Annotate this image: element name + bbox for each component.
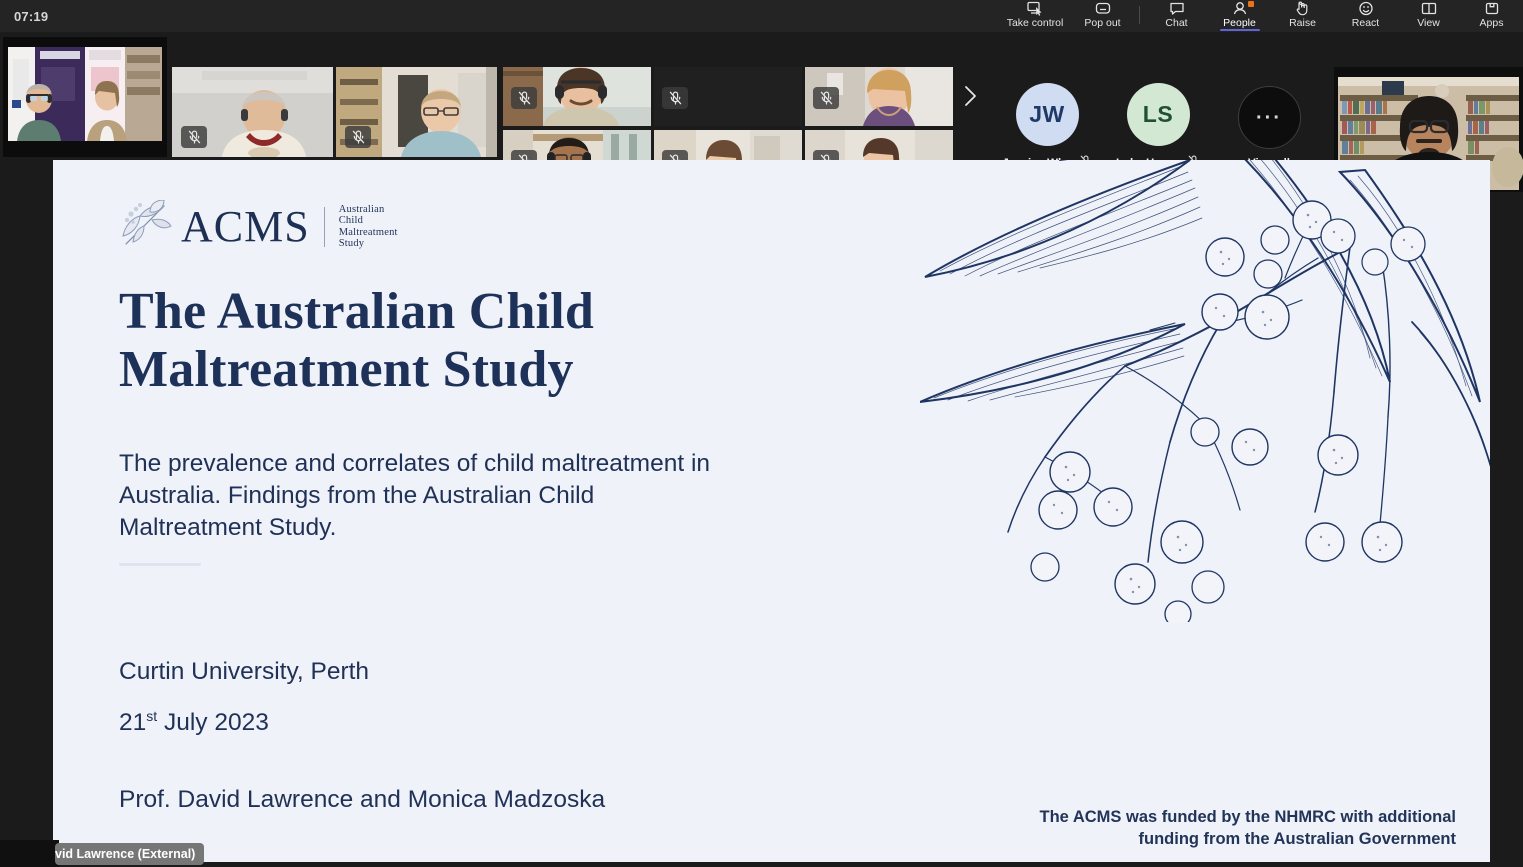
raise-hand-label: Raise — [1289, 17, 1316, 29]
people-active-indicator — [1220, 29, 1260, 31]
avatar-initials: LS — [1143, 101, 1173, 128]
slide-date-ordinal: st — [146, 708, 157, 724]
mute-indicator-4 — [511, 87, 537, 109]
logo-sub-line-2: Child — [339, 215, 363, 226]
filmstrip-next-button[interactable] — [957, 32, 983, 160]
slide-authors: Prof. David Lawrence and Monica Madzoska — [119, 784, 605, 816]
react-button[interactable]: React — [1334, 0, 1397, 32]
slide-date-day: 21 — [119, 709, 146, 736]
wattle-sprig-icon — [120, 200, 172, 253]
raise-hand-button[interactable]: Raise — [1271, 0, 1334, 32]
logo-sub-line-3: Maltreatment — [339, 227, 398, 238]
view-button[interactable]: View — [1397, 0, 1460, 32]
toolbar-divider — [1139, 6, 1140, 24]
slide-funding-note: The ACMS was funded by the NHMRC with ad… — [1016, 806, 1456, 850]
pop-out-button[interactable]: Pop out — [1071, 0, 1134, 32]
people-icon — [1231, 1, 1249, 16]
avatar-luke: LS — [1127, 83, 1190, 146]
presenter-name-chip: vid Lawrence (External) — [55, 843, 204, 865]
toolbar-actions: Take control Pop out Chat P — [999, 0, 1523, 32]
mute-indicator-6 — [813, 87, 839, 109]
video-tile-6[interactable] — [805, 67, 953, 126]
slide-venue: Curtin University, Perth — [119, 649, 369, 694]
logo-sub-line-1: Australian — [339, 204, 385, 215]
react-icon — [1358, 1, 1374, 16]
mute-indicator-2 — [181, 126, 207, 148]
chat-icon — [1169, 1, 1185, 16]
meeting-window: 07:19 Take control Pop out Chat — [0, 0, 1523, 867]
take-control-label: Take control — [1007, 17, 1064, 29]
people-badge — [1248, 1, 1254, 7]
mute-indicator-5 — [662, 87, 688, 109]
avatar-jessica: JW — [1016, 83, 1079, 146]
apps-icon — [1484, 1, 1500, 16]
take-control-icon — [1027, 1, 1044, 16]
slide-date: 21st July 2023 — [119, 694, 269, 745]
video-tile-2[interactable] — [172, 67, 333, 157]
slide-subtitle: The prevalence and correlates of child m… — [119, 448, 739, 544]
people-label: People — [1223, 17, 1256, 29]
view-all-avatar: ··· — [1238, 86, 1301, 149]
apps-label: Apps — [1480, 17, 1504, 29]
people-button[interactable]: People — [1208, 0, 1271, 32]
acms-logo: ACMS Australian Child Maltreatment Study — [120, 200, 398, 253]
shared-slide: ACMS Australian Child Maltreatment Study… — [53, 160, 1490, 862]
video-tile-5-camera-off[interactable] — [654, 67, 802, 126]
raise-hand-icon — [1295, 1, 1310, 16]
pop-out-label: Pop out — [1084, 17, 1120, 29]
more-dots-icon: ··· — [1256, 113, 1282, 123]
presenter-name-banner: vid Lawrence (External) — [0, 840, 204, 867]
chevron-right-icon — [963, 85, 977, 107]
acms-logo-subtitle: Australian Child Maltreatment Study — [339, 204, 398, 250]
meeting-toolbar: 07:19 Take control Pop out Chat — [0, 0, 1523, 32]
logo-sub-line-4: Study — [339, 238, 365, 249]
view-label: View — [1417, 17, 1440, 29]
pop-out-icon — [1095, 1, 1111, 16]
video-tile-3[interactable] — [336, 67, 497, 157]
logo-divider — [324, 207, 325, 247]
view-layout-icon — [1421, 1, 1437, 16]
chat-button[interactable]: Chat — [1145, 0, 1208, 32]
video-tile-presenters[interactable] — [3, 37, 167, 157]
take-control-button[interactable]: Take control — [999, 0, 1071, 32]
slide-title: The Australian Child Maltreatment Study — [119, 283, 819, 399]
apps-button[interactable]: Apps — [1460, 0, 1523, 32]
react-label: React — [1352, 17, 1379, 29]
presenter-video — [3, 37, 167, 157]
wattle-branch-illustration — [920, 160, 1490, 622]
namebar-backdrop — [0, 840, 59, 867]
slide-divider-rule — [119, 563, 201, 566]
chat-label: Chat — [1165, 17, 1187, 29]
acms-wordmark: ACMS — [181, 205, 310, 249]
slide-date-rest: July 2023 — [157, 709, 269, 736]
mute-indicator-3 — [345, 126, 371, 148]
video-filmstrip: JW Jessica Wh... LS Luke How ... — [0, 32, 1523, 160]
meeting-clock: 07:19 — [14, 9, 48, 24]
avatar-initials: JW — [1029, 101, 1065, 128]
video-tile-4[interactable] — [503, 67, 651, 126]
